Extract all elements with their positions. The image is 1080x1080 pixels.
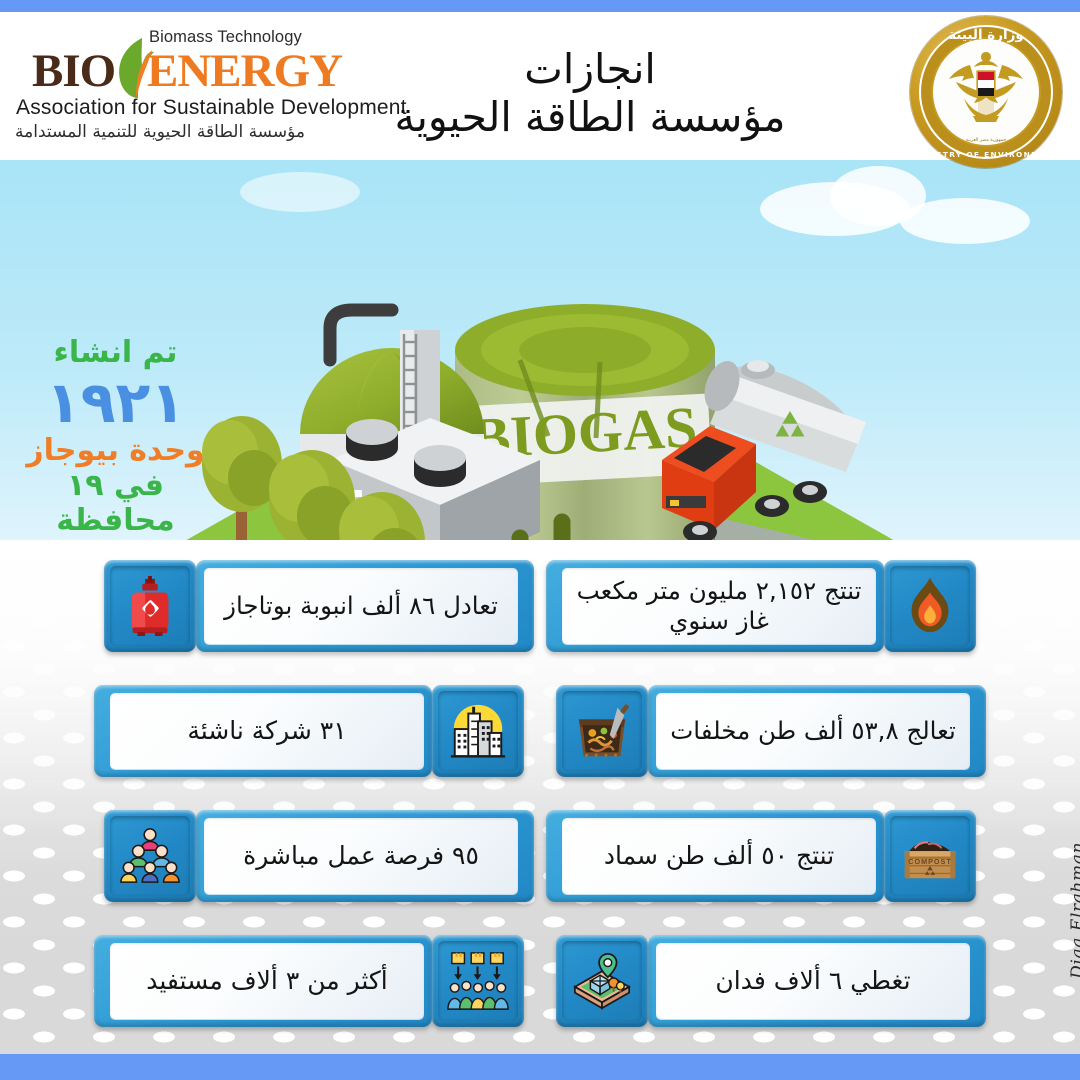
stat-card-startups[interactable]: ٣١ شركة ناشئة xyxy=(104,685,524,777)
stat-card-plate: تنتج ٥٠ ألف طن سماد xyxy=(562,818,876,894)
beneficiaries-icon xyxy=(432,935,524,1027)
stat-card-body: ٣١ شركة ناشئة xyxy=(94,685,432,777)
stat-card-text: تنتج ٢,١٥٢ مليون متر مكعب غاز سنوي xyxy=(572,576,866,636)
biogas-plant-illustration: BIOGAS xyxy=(0,160,1080,540)
stat-card-gas-production[interactable]: تنتج ٢,١٥٢ مليون متر مكعب غاز سنوي xyxy=(556,560,976,652)
compost-crate-icon: COMPOST xyxy=(884,810,976,902)
ministry-of-environment-seal: وزارة البيئة MINISTRY OF ENVIRONMENT جمه… xyxy=(910,16,1062,168)
stat-card-body: ٩٥ فرصة عمل مباشرة xyxy=(196,810,534,902)
stat-card-plate: تعالج ٥٣,٨ ألف طن مخلفات xyxy=(656,693,970,769)
hero-line-1: تم انشاء xyxy=(8,335,223,370)
stat-card-plate: تغطي ٦ ألاف فدان xyxy=(656,943,970,1019)
stat-card-land-covered[interactable]: تغطي ٦ ألاف فدان xyxy=(556,935,976,1027)
stats-grid: تنتج ٢,١٥٢ مليون متر مكعب غاز سنويتعادل … xyxy=(0,540,1080,1068)
title-line-1: انجازات xyxy=(524,46,656,93)
stat-card-body: تغطي ٦ ألاف فدان xyxy=(648,935,986,1027)
hero-number: ١٩٢١ xyxy=(8,370,223,437)
land-plot-icon xyxy=(556,935,648,1027)
stat-card-fertilizer-production[interactable]: COMPOSTتنتج ٥٠ ألف طن سماد xyxy=(556,810,976,902)
stat-card-text: تنتج ٥٠ ألف طن سماد xyxy=(604,841,834,872)
header: Biomass Technology BIO ENERGY Associatio… xyxy=(0,12,1080,160)
stat-card-waste-treated[interactable]: تعالج ٥٣,٨ ألف طن مخلفات xyxy=(556,685,976,777)
bottom-border-bar xyxy=(0,1054,1080,1080)
logo-subtitle-ar: مؤسسة الطاقة الحيوية للتنمية المستدامة xyxy=(14,122,306,142)
bioenergy-logo: Biomass Technology BIO ENERGY Associatio… xyxy=(14,26,306,148)
top-border-bar xyxy=(0,0,1080,12)
stat-card-body: تعالج ٥٣,٨ ألف طن مخلفات xyxy=(648,685,986,777)
stat-card-body: تنتج ٢,١٥٢ مليون متر مكعب غاز سنوي xyxy=(546,560,884,652)
stat-card-text: أكثر من ٣ ألاف مستفيد xyxy=(146,966,388,997)
stat-card-beneficiaries[interactable]: أكثر من ٣ ألاف مستفيد xyxy=(104,935,524,1027)
stats-section: تنتج ٢,١٥٢ مليون متر مكعب غاز سنويتعادل … xyxy=(0,540,1080,1068)
logo-subtitle-en: Association for Sustainable Development xyxy=(16,96,308,120)
logo-word-bio: BIO xyxy=(32,44,115,98)
seal-caption: جمهورية مصر العربية xyxy=(910,138,1062,143)
stat-card-body: تعادل ٨٦ ألف انبوبة بوتاجاز xyxy=(196,560,534,652)
stat-card-plate: تعادل ٨٦ ألف انبوبة بوتاجاز xyxy=(204,568,518,644)
hero-line-3: وحدة بيوجاز xyxy=(8,433,223,468)
city-buildings-icon xyxy=(432,685,524,777)
infographic-poster: Biomass Technology BIO ENERGY Associatio… xyxy=(0,0,1080,1080)
stat-card-text: تغطي ٦ ألاف فدان xyxy=(715,966,910,997)
page-title: انجازات مؤسسة الطاقة الحيوية xyxy=(310,30,870,158)
stat-card-direct-jobs[interactable]: ٩٥ فرصة عمل مباشرة xyxy=(104,810,524,902)
compost-bin-icon xyxy=(556,685,648,777)
stat-card-text: تعالج ٥٣,٨ ألف طن مخلفات xyxy=(670,716,956,746)
hero-statement: تم انشاء ١٩٢١ وحدة بيوجاز في ١٩ محافظة xyxy=(8,335,223,538)
gas-cylinder-icon xyxy=(104,560,196,652)
stat-card-butane-equivalent[interactable]: تعادل ٨٦ ألف انبوبة بوتاجاز xyxy=(104,560,524,652)
stat-card-text: ٩٥ فرصة عمل مباشرة xyxy=(243,841,479,872)
stat-card-plate: ٣١ شركة ناشئة xyxy=(110,693,424,769)
title-line-2: مؤسسة الطاقة الحيوية xyxy=(395,93,786,142)
stat-card-body: أكثر من ٣ ألاف مستفيد xyxy=(94,935,432,1027)
stat-card-plate: تنتج ٢,١٥٢ مليون متر مكعب غاز سنوي xyxy=(562,568,876,644)
flame-icon xyxy=(884,560,976,652)
stat-card-plate: ٩٥ فرصة عمل مباشرة xyxy=(204,818,518,894)
author-signature: Diaa Elrahman xyxy=(1068,842,1080,979)
stat-card-body: تنتج ٥٠ ألف طن سماد xyxy=(546,810,884,902)
hero-line-4: في ١٩ محافظة xyxy=(8,468,223,538)
stat-card-plate: أكثر من ٣ ألاف مستفيد xyxy=(110,943,424,1019)
eagle-of-saladin-icon xyxy=(940,46,1032,138)
stat-card-text: تعادل ٨٦ ألف انبوبة بوتاجاز xyxy=(224,591,498,621)
stat-card-text: ٣١ شركة ناشئة xyxy=(187,716,346,747)
svg-text:COMPOST: COMPOST xyxy=(908,857,951,866)
logo-wordmark: BIO ENERGY xyxy=(14,46,306,94)
people-pyramid-icon xyxy=(104,810,196,902)
